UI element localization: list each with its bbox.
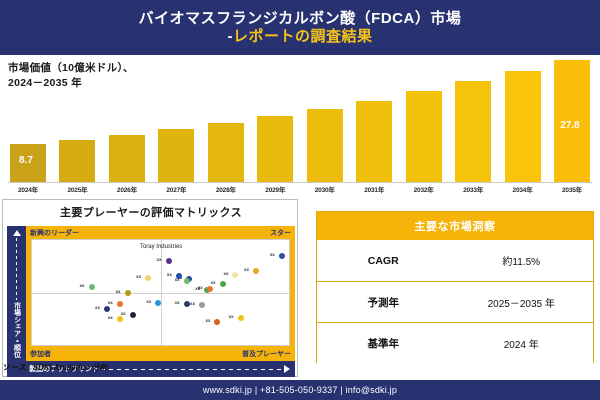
bar-slot [206, 55, 246, 182]
bar-2026年 [109, 135, 145, 182]
bar-slot [305, 55, 345, 182]
bar-2025年 [59, 140, 95, 182]
insight-row: 予測年2025－2035 年 [317, 281, 593, 322]
quadrant-label-participants: 参加者 [30, 349, 51, 359]
matrix-dot [238, 315, 244, 321]
bar-2034年 [505, 71, 541, 182]
matrix-dot [130, 312, 136, 318]
matrix-dot-label: xx [190, 301, 195, 306]
source-note: ソース : SDKI Analytics 分析 [2, 362, 108, 373]
bar-2032年 [406, 91, 442, 182]
matrix-dot-label: xx [108, 315, 113, 320]
footer-bar: www.sdki.jp | +81-505-050-9337 | info@sd… [0, 380, 600, 400]
bar-slot [107, 55, 147, 182]
dashed-line-horizontal [101, 369, 282, 370]
dashed-line-vertical [16, 238, 17, 300]
matrix-dot [166, 258, 172, 264]
matrix-dot-label: xx [121, 311, 126, 316]
matrix-dot [184, 278, 190, 284]
insight-value: 約11.5% [449, 253, 593, 268]
matrix-dot-label: xx [229, 314, 234, 319]
matrix-dot [232, 272, 238, 278]
bar-slot [354, 55, 394, 182]
chart-x-axis-labels: 2024年2025年2026年2027年2028年2029年2030年2031年… [8, 184, 592, 197]
matrix-bottom-labels: 参加者 普及プレーヤー [26, 348, 295, 360]
x-axis-label-2028年: 2028年 [206, 184, 246, 197]
infographic-page: バイオマスフランジカルボン酸（FDCA）市場 -レポートの調査結果 市場価値（1… [0, 0, 600, 400]
x-axis-label-2024年: 2024年 [8, 184, 48, 197]
insight-value: 2025－2035 年 [449, 295, 593, 310]
insight-key: CAGR [317, 255, 449, 267]
matrix-dot-label: xx [116, 289, 121, 294]
bar-slot [156, 55, 196, 182]
matrix-dot-label: xx [223, 271, 228, 276]
bar-2027年 [158, 129, 194, 182]
matrix-dot [117, 301, 123, 307]
x-axis-label-2025年: 2025年 [57, 184, 97, 197]
x-axis-label-2027年: 2027年 [156, 184, 196, 197]
matrix-y-axis: 市場シェア・順位 [7, 226, 26, 361]
matrix-dot-label: xx [136, 274, 141, 279]
matrix-dot [279, 253, 285, 259]
matrix-dot [207, 286, 213, 292]
insight-row: CAGR約11.5% [317, 240, 593, 281]
matrix-dot [220, 281, 226, 287]
x-axis-label-2026年: 2026年 [107, 184, 147, 197]
bar-2033年 [455, 81, 491, 182]
chart-axis-line [8, 182, 592, 183]
matrix-dot [89, 284, 95, 290]
arrow-right-icon [284, 365, 290, 373]
matrix-dot [184, 301, 190, 307]
page-subtitle: -レポートの調査結果 [227, 28, 372, 46]
arrow-up-icon [13, 230, 21, 236]
x-axis-label-2029年: 2029年 [255, 184, 295, 197]
matrix-divider-horizontal [32, 293, 289, 294]
page-title: バイオマスフランジカルボン酸（FDCA）市場 [139, 10, 462, 28]
header-banner: バイオマスフランジカルボン酸（FDCA）市場 -レポートの調査結果 [0, 0, 600, 55]
insights-heading: 主要な市場洞察 [317, 212, 593, 240]
matrix-dot-label: xx [244, 267, 249, 272]
matrix-dot-label: xx [80, 283, 85, 288]
matrix-dot [104, 306, 110, 312]
bar-2031年 [356, 101, 392, 182]
matrix-dot-label: xx [146, 299, 151, 304]
matrix-dot-label: xx [108, 300, 113, 305]
x-axis-label-2035年: 2035年 [552, 184, 592, 197]
insight-key: 予測年 [317, 295, 449, 310]
bar-slot: 8.7 [8, 55, 48, 182]
matrix-dot [199, 302, 205, 308]
quadrant-label-pervasive-players: 普及プレーヤー [242, 349, 291, 359]
matrix-named-player-label: Toray Industries [140, 244, 182, 250]
x-axis-label-2034年: 2034年 [503, 184, 543, 197]
matrix-title: 主要プレーヤーの評価マトリックス [3, 204, 299, 220]
matrix-dot-label: xx [175, 300, 180, 305]
bar-slot [57, 55, 97, 182]
bar-slot [503, 55, 543, 182]
matrix-dot [125, 290, 131, 296]
market-value-chart: 市場価値（10億米ドル）、 2024－2035 年 8.727.8 2024年2… [0, 55, 600, 197]
bar-2029年 [257, 116, 293, 182]
matrix-dot-label: xx [157, 257, 162, 262]
matrix-scatter-grid: Toray Industries xxxxxxxxxxxxxxxxxxxxxxx… [31, 239, 290, 346]
bar-slot [453, 55, 493, 182]
matrix-dot [145, 275, 151, 281]
bar-value-label: 8.7 [8, 155, 44, 166]
matrix-dot [214, 319, 220, 325]
x-axis-label-2031年: 2031年 [354, 184, 394, 197]
key-insights-table: 主要な市場洞察 CAGR約11.5%予測年2025－2035 年基準年2024 … [316, 211, 594, 363]
bar-slot [255, 55, 295, 182]
bar-series: 8.727.8 [8, 55, 592, 182]
chart-plot-area: 8.727.8 [8, 55, 592, 182]
matrix-dot-label: xx [198, 285, 203, 290]
bar-2030年 [307, 109, 343, 182]
bar-slot: 27.8 [552, 55, 592, 182]
insight-value: 2024 年 [449, 336, 593, 351]
bar-slot [404, 55, 444, 182]
matrix-dot-label: xx [175, 277, 180, 282]
matrix-frame: 市場シェア・順位 新興のリーダー スター Toray Industries xx… [7, 226, 295, 361]
matrix-dot-label: xx [211, 280, 216, 285]
bar-2028年 [208, 123, 244, 182]
footer-contact-text: www.sdki.jp | +81-505-050-9337 | info@sd… [203, 385, 397, 395]
matrix-dot-label: xx [95, 305, 100, 310]
matrix-y-axis-label: 市場シェア・順位 [12, 302, 22, 361]
x-axis-label-2033年: 2033年 [453, 184, 493, 197]
matrix-top-labels: 新興のリーダー スター [26, 227, 295, 239]
matrix-dot [253, 268, 259, 274]
matrix-dot-label: xx [270, 252, 275, 257]
insights-rows: CAGR約11.5%予測年2025－2035 年基準年2024 年 [317, 240, 593, 363]
matrix-quadrants: 新興のリーダー スター Toray Industries xxxxxxxxxxx… [26, 226, 295, 361]
matrix-dot [117, 316, 123, 322]
subtitle-highlight: レポートの調査結果 [233, 28, 373, 45]
bar-value-label: 27.8 [552, 120, 588, 131]
insight-key: 基準年 [317, 336, 449, 351]
insight-row: 基準年2024 年 [317, 322, 593, 363]
x-axis-label-2030年: 2030年 [305, 184, 345, 197]
quadrant-label-emerging-leaders: 新興のリーダー [30, 228, 79, 238]
matrix-dot-label: xx [167, 272, 172, 277]
quadrant-label-stars: スター [270, 228, 291, 238]
matrix-dot-label: xx [205, 318, 210, 323]
x-axis-label-2032年: 2032年 [404, 184, 444, 197]
player-matrix-panel: 主要プレーヤーの評価マトリックス 市場シェア・順位 新興のリーダー スター To… [2, 199, 298, 377]
